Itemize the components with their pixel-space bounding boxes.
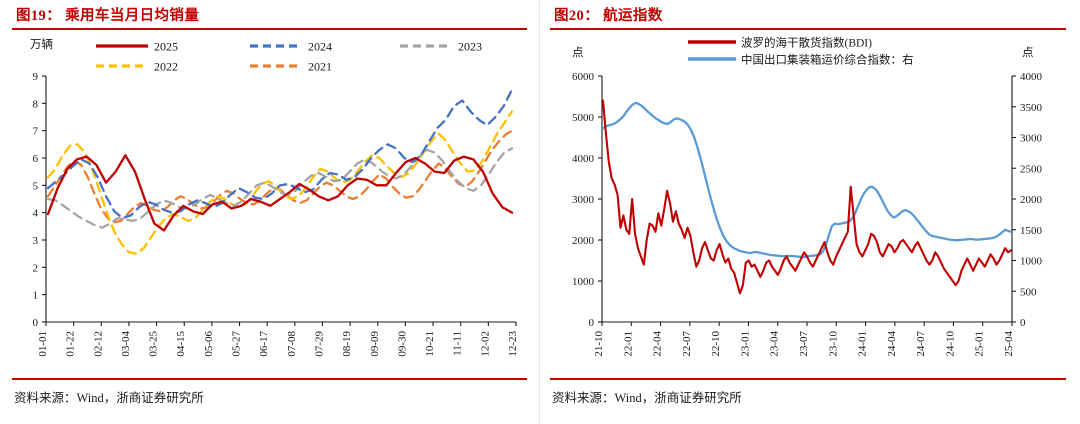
left-y-tick-label: 2000 <box>572 235 595 247</box>
figure-20-series-group <box>603 101 1011 294</box>
x-tick-label: 23-04 <box>769 331 781 357</box>
y-tick-label: 5 <box>33 180 39 192</box>
legend-label-2023: 2023 <box>458 40 482 54</box>
figure-20-left-unit-label: 点 <box>572 46 584 59</box>
right-y-tick-label: 2000 <box>1020 194 1043 206</box>
figure-19-x-ticks: 01-0101-2202-1203-0403-2504-1505-0605-27… <box>37 322 519 357</box>
x-tick-label: 24-07 <box>915 331 927 357</box>
x-tick-label: 03-25 <box>148 331 160 357</box>
figure-20-series-ccfi <box>603 103 1011 257</box>
x-tick-label: 22-04 <box>652 331 664 357</box>
x-tick-label: 25-04 <box>1003 331 1015 357</box>
right-y-tick-label: 2500 <box>1020 163 1043 175</box>
x-tick-label: 22-07 <box>681 331 693 357</box>
figure-20-chart-area: 点点波罗的海干散货指数(BDI)中国出口集装箱运价综合指数：右010002000… <box>540 30 1080 370</box>
figure-19-source-rule <box>12 378 527 380</box>
x-tick-label: 24-04 <box>886 331 898 357</box>
x-tick-label: 24-10 <box>944 331 956 357</box>
x-tick-label: 10-21 <box>424 331 436 357</box>
figure-19-legend: 20252024202320222021 <box>96 40 482 74</box>
figure-20-svg: 点点波罗的海干散货指数(BDI)中国出口集装箱运价综合指数：右010002000… <box>540 30 1080 370</box>
left-y-tick-label: 1000 <box>572 276 595 288</box>
y-tick-label: 1 <box>33 290 39 302</box>
figure-20-right-y-ticks: 05001000150020002500300035004000 <box>1012 71 1043 329</box>
x-tick-label: 22-10 <box>710 331 722 357</box>
left-y-tick-label: 5000 <box>572 112 595 124</box>
figure-pair-container: 图19： 乘用车当月日均销量 万辆20252024202320222021012… <box>0 0 1080 424</box>
x-tick-label: 02-12 <box>92 331 104 357</box>
legend-label-2024: 2024 <box>308 40 332 54</box>
figure-19-chart-area: 万辆20252024202320222021012345678901-0101-… <box>0 30 540 370</box>
figure-20-x-ticks: 21-1022-0122-0422-0722-1023-0123-0423-07… <box>593 322 1015 357</box>
x-tick-label: 24-01 <box>857 331 869 357</box>
figure-19-left-unit-label: 万辆 <box>30 37 53 51</box>
x-tick-label: 05-27 <box>231 331 243 357</box>
y-tick-label: 8 <box>33 98 39 110</box>
legend-label-2022: 2022 <box>154 60 178 74</box>
y-tick-label: 6 <box>33 153 39 165</box>
right-y-tick-label: 1000 <box>1020 256 1043 268</box>
x-tick-label: 08-19 <box>341 331 353 357</box>
x-tick-label: 04-15 <box>175 331 187 357</box>
x-tick-label: 07-29 <box>313 331 325 357</box>
figure-20-title: 图20： 航运指数 <box>554 4 663 25</box>
left-y-tick-label: 0 <box>589 317 595 329</box>
left-y-tick-label: 4000 <box>572 153 595 165</box>
legend-label-bdi: 波罗的海干散货指数(BDI) <box>741 36 872 50</box>
right-y-tick-label: 3000 <box>1020 133 1043 145</box>
x-tick-label: 22-01 <box>622 331 634 357</box>
figure-19-series-2021 <box>48 131 512 223</box>
x-tick-label: 23-07 <box>798 331 810 357</box>
figure-20-source-rule <box>550 378 1066 380</box>
right-y-tick-label: 4000 <box>1020 71 1043 83</box>
x-tick-label: 05-06 <box>203 331 215 357</box>
x-tick-label: 01-22 <box>65 331 77 357</box>
right-y-tick-label: 1500 <box>1020 225 1043 237</box>
left-y-tick-label: 3000 <box>572 194 595 206</box>
x-tick-label: 09-09 <box>369 331 381 357</box>
x-tick-label: 23-01 <box>739 331 751 357</box>
x-tick-label: 12-23 <box>507 331 519 357</box>
figure-19-series-2022 <box>48 112 512 254</box>
figure-19-svg: 万辆20252024202320222021012345678901-0101-… <box>0 30 540 370</box>
figure-20-legend: 波罗的海干散货指数(BDI)中国出口集装箱运价综合指数：右 <box>688 36 914 67</box>
y-tick-label: 7 <box>33 126 39 138</box>
right-y-tick-label: 3500 <box>1020 102 1043 114</box>
x-tick-label: 09-30 <box>396 331 408 357</box>
figure-19-source-text: 资料来源：Wind，浙商证券研究所 <box>14 387 204 406</box>
y-tick-label: 9 <box>33 71 39 83</box>
x-tick-label: 23-10 <box>827 331 839 357</box>
right-y-tick-label: 500 <box>1020 286 1037 298</box>
figure-19-title: 图19： 乘用车当月日均销量 <box>16 4 199 25</box>
figure-20-source-text: 资料来源：Wind，浙商证券研究所 <box>552 387 742 406</box>
left-y-tick-label: 6000 <box>572 71 595 83</box>
figure-panel-20: 图20： 航运指数 点点波罗的海干散货指数(BDI)中国出口集装箱运价综合指数：… <box>540 0 1080 424</box>
x-tick-label: 06-17 <box>258 331 270 357</box>
x-tick-label: 07-08 <box>286 331 298 357</box>
figure-20-left-y-ticks: 0100020003000400050006000 <box>572 71 602 329</box>
figure-20-right-unit-label: 点 <box>1022 46 1034 59</box>
figure-19-series-group <box>48 90 512 254</box>
x-tick-label: 11-11 <box>452 331 464 356</box>
x-tick-label: 25-01 <box>974 331 986 357</box>
figure-20-series-bdi <box>603 101 1011 294</box>
y-tick-label: 2 <box>33 262 39 274</box>
legend-label-2025: 2025 <box>154 40 178 54</box>
x-tick-label: 12-02 <box>479 331 491 357</box>
figure-19-series-2023 <box>48 148 512 227</box>
right-y-tick-label: 0 <box>1020 317 1026 329</box>
y-tick-label: 0 <box>33 317 39 329</box>
y-tick-label: 3 <box>33 235 39 247</box>
x-tick-label: 01-01 <box>37 331 49 357</box>
figure-panel-19: 图19： 乘用车当月日均销量 万辆20252024202320222021012… <box>0 0 540 424</box>
legend-label-ccfi: 中国出口集装箱运价综合指数：右 <box>741 53 914 67</box>
figure-19-y-ticks: 0123456789 <box>33 71 47 329</box>
legend-label-2021: 2021 <box>308 60 332 74</box>
x-tick-label: 21-10 <box>593 331 605 357</box>
y-tick-label: 4 <box>33 208 39 220</box>
x-tick-label: 03-04 <box>120 331 132 357</box>
